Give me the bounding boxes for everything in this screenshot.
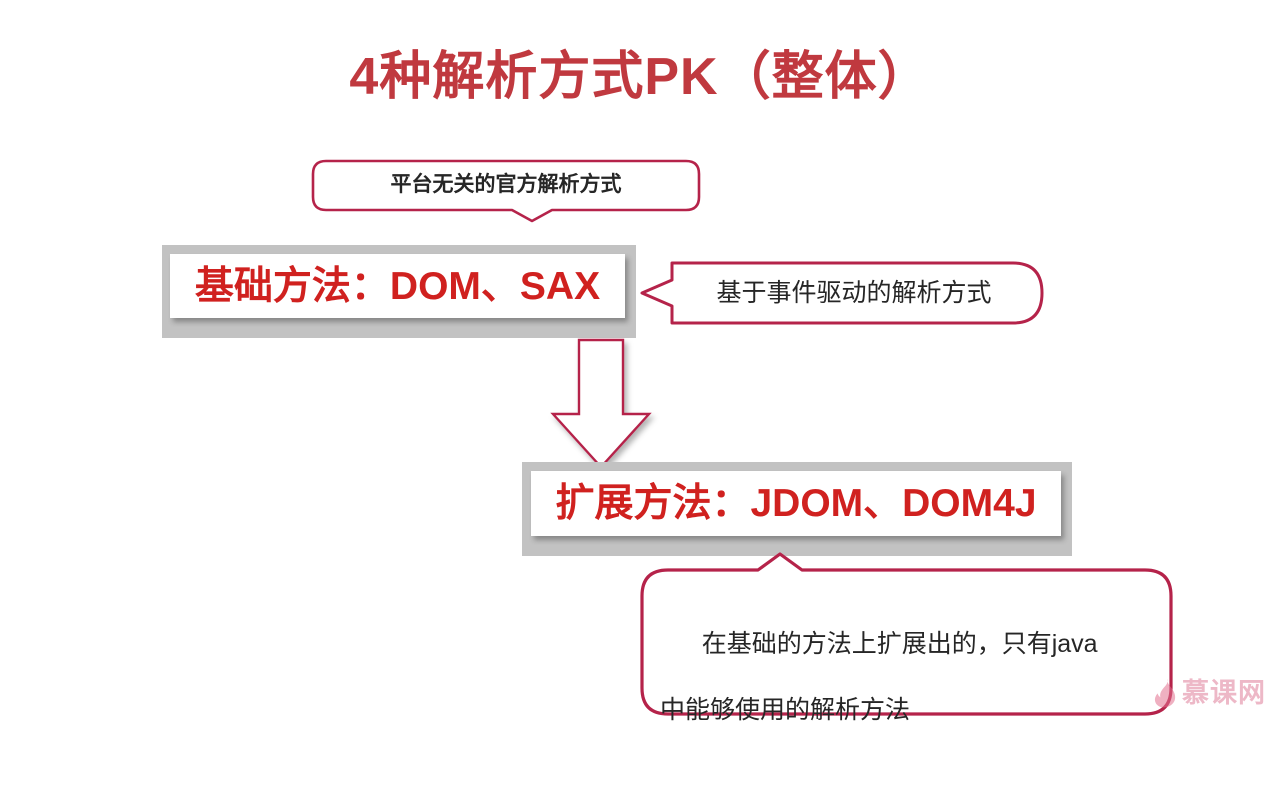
callout-event-label: 基于事件驱动的解析方式: [674, 261, 1034, 325]
callout-java-line-2: 中能够使用的解析方法: [660, 694, 1160, 727]
callout-java-line-1: 在基础的方法上扩展出的，只有java: [702, 630, 1098, 658]
slide-canvas: 4种解析方式PK（整体） 平台无关的官方解析方式 基础方法：DOM、SAX 基于…: [0, 0, 1280, 720]
method-box-extended: 扩展方法：JDOM、DOM4J: [522, 462, 1072, 556]
flame-icon: [1153, 678, 1179, 708]
watermark: 慕课网: [1153, 676, 1266, 710]
flow-arrow-down: [548, 338, 654, 470]
watermark-label: 慕课网: [1182, 680, 1266, 707]
callout-platform-label: 平台无关的官方解析方式: [312, 160, 700, 210]
method-box-extended-panel: 扩展方法：JDOM、DOM4J: [531, 471, 1061, 536]
method-box-basic: 基础方法：DOM、SAX: [162, 245, 636, 338]
callout-platform-official: 平台无关的官方解析方式: [312, 160, 700, 222]
arrow-down-icon: [548, 338, 654, 470]
callout-java-text-block: 在基础的方法上扩展出的，只有java 中能够使用的解析方法: [660, 595, 1160, 793]
callout-java-only: 在基础的方法上扩展出的，只有java 中能够使用的解析方法: [640, 552, 1173, 716]
method-box-extended-label: 扩展方法：JDOM、DOM4J: [555, 484, 1036, 523]
method-box-basic-panel: 基础方法：DOM、SAX: [170, 254, 625, 318]
callout-event-driven: 基于事件驱动的解析方式: [640, 261, 1044, 325]
page-title: 4种解析方式PK（整体）: [0, 48, 1280, 108]
method-box-basic-label: 基础方法：DOM、SAX: [195, 267, 600, 306]
